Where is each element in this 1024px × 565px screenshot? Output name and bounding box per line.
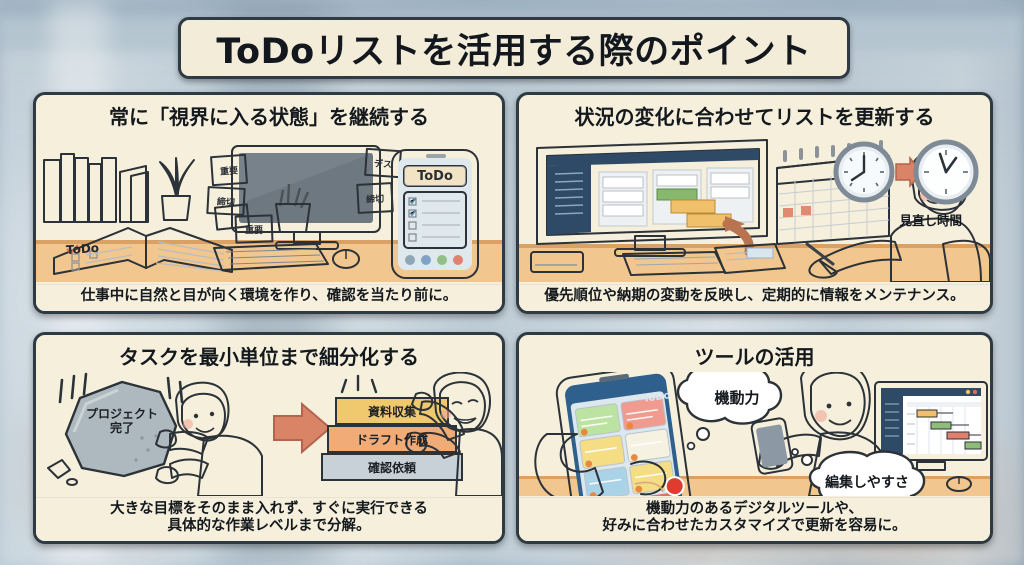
- bubble-editability-label: 編集しやすさ: [817, 466, 917, 497]
- sticky-note-deadline-2: 締切: [357, 183, 392, 213]
- panel-tools-caption-line1: 機動力のあるデジタルツールや、: [525, 501, 984, 519]
- panel-update-title: 状況の変化に合わせてリストを更新する: [519, 95, 990, 132]
- panel-tools-caption-line2: 好みに合わせたカスタマイズで更新を容易に。: [525, 518, 984, 536]
- panel-visibility-illustration: ToDo ToDo 重要 締切 重要 デス 締切: [36, 132, 502, 284]
- page-title: ToDoリストを活用する際のポイント: [216, 23, 811, 74]
- sticky-note-important-2: 重要: [236, 216, 272, 242]
- bubble-mobility-label: 機動力: [689, 380, 785, 414]
- panel-breakdown-title: タスクを最小単位まで細分化する: [36, 335, 502, 372]
- main-title-banner: ToDoリストを活用する際のポイント: [178, 17, 850, 79]
- panel-visibility-caption: 仕事中に自然と目が向く環境を作り、確認を当たり前に。: [36, 284, 502, 311]
- panel-breakdown: タスクを最小単位まで細分化する: [33, 332, 505, 544]
- panel-tools: ツールの活用: [516, 332, 993, 544]
- notebook-todo-label: ToDo: [66, 241, 100, 257]
- rock-label-line2: 完了: [70, 422, 174, 436]
- infographic-canvas: ToDoリストを活用する際のポイント 常に「視界に入る状態」を継続する: [0, 0, 1024, 565]
- panel-breakdown-illustration: プロジェクト 完了 資料収集 ドラフト作成 確認依頼: [36, 372, 502, 497]
- sticky-note-desk: デス: [365, 149, 401, 177]
- task-block-review-request: 確認依頼: [322, 454, 462, 480]
- panel-breakdown-caption-line2: 具体的な作業レベルまで分解。: [42, 518, 496, 536]
- panel-visibility: 常に「視界に入る状態」を継続する: [33, 92, 505, 314]
- review-time-label: 見直し時間: [899, 210, 962, 229]
- panel-update: 状況の変化に合わせてリストを更新する: [516, 92, 993, 314]
- sticky-note-important-1: 重要: [211, 155, 247, 185]
- panel-tools-title: ツールの活用: [519, 335, 990, 372]
- panel-breakdown-caption: 大きな目標をそのまま入れず、すぐに実行できる 具体的な作業レベルまで分解。: [36, 497, 502, 541]
- task-block-research: 資料収集: [336, 398, 448, 424]
- panel-tools-caption: 機動力のあるデジタルツールや、 好みに合わせたカスタマイズで更新を容易に。: [519, 497, 990, 541]
- panel-tools-illustration: ToDo 機動力 編集しやすさ: [519, 372, 990, 497]
- rock-label-line1: プロジェクト: [70, 408, 174, 422]
- panel-visibility-title: 常に「視界に入る状態」を継続する: [36, 95, 502, 132]
- rock-label: プロジェクト 完了: [70, 408, 174, 436]
- sticky-note-deadline-1: 締切: [207, 187, 244, 215]
- panel-update-illustration: 見直し時間: [519, 132, 990, 284]
- panel-breakdown-caption-line1: 大きな目標をそのまま入れず、すぐに実行できる: [42, 501, 496, 519]
- phone-todo-header: ToDo: [404, 166, 466, 186]
- task-block-draft: ドラフト作成: [328, 426, 456, 452]
- panel-update-caption: 優先順位や納期の変動を反映し、定期的に情報をメンテナンス。: [519, 284, 990, 311]
